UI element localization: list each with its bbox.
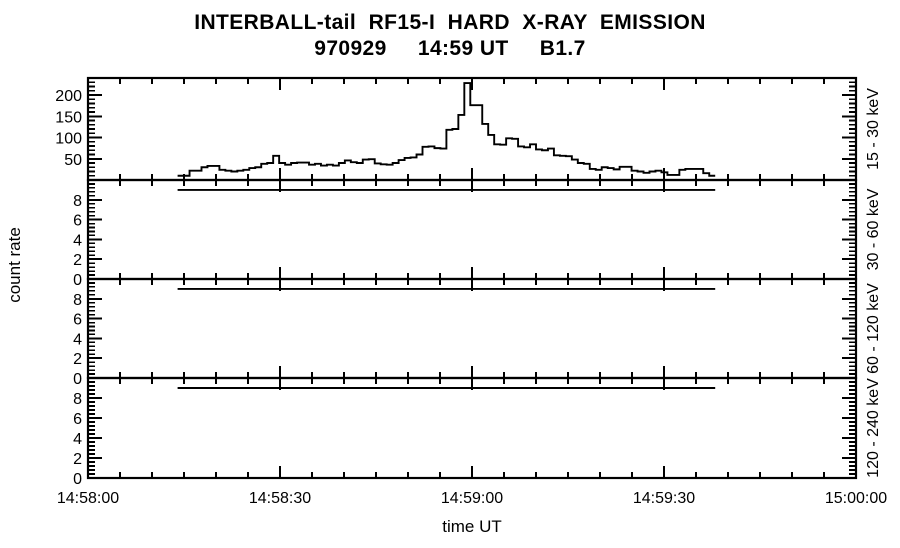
y-tick-label: 200 (55, 88, 82, 105)
y-tick-label: 2 (73, 252, 82, 269)
x-tick-label: 14:59:30 (633, 490, 695, 507)
y-tick-label: 50 (64, 152, 82, 169)
y-tick-label: 4 (73, 232, 82, 249)
x-tick-label: 15:00:00 (825, 490, 887, 507)
y-axis-title: count rate (5, 227, 24, 303)
y-tick-label: 2 (73, 451, 82, 468)
data-trace-panel-0 (178, 83, 716, 176)
panel-frame-0 (88, 78, 856, 180)
panel-0: 2001501005015 - 30 keV (55, 78, 882, 180)
x-tick-label: 14:59:00 (441, 490, 503, 507)
panel-frame-2 (88, 279, 856, 378)
y-tick-label: 6 (73, 213, 82, 230)
y-tick-label: 0 (73, 272, 82, 289)
x-tick-label: 14:58:30 (249, 490, 311, 507)
y-tick-label: 0 (73, 371, 82, 388)
panel-frame-3 (88, 378, 856, 478)
x-axis-title: time UT (442, 517, 502, 536)
plot-svg: 2001501005015 - 30 keV8642030 - 60 keV86… (0, 0, 900, 548)
energy-band-label-0: 15 - 30 keV (865, 88, 882, 170)
figure-root: INTERBALL-tail RF15-I HARD X-RAY EMISSIO… (0, 0, 900, 548)
y-tick-label: 6 (73, 411, 82, 428)
energy-band-label-1: 30 - 60 keV (865, 188, 882, 270)
panel-2: 8642060 - 120 keV (73, 279, 882, 388)
panels-group: 2001501005015 - 30 keV8642030 - 60 keV86… (55, 78, 882, 488)
y-tick-label: 8 (73, 193, 82, 210)
y-tick-label: 4 (73, 431, 82, 448)
panel-1: 8642030 - 60 keV (73, 180, 882, 289)
panel-frame-1 (88, 180, 856, 279)
x-tick-label: 14:58:00 (57, 490, 119, 507)
y-tick-label: 8 (73, 391, 82, 408)
x-axis-group: 14:58:0014:58:3014:59:0014:59:3015:00:00 (57, 490, 887, 507)
y-tick-label: 4 (73, 331, 82, 348)
y-tick-label: 150 (55, 109, 82, 126)
energy-band-label-2: 60 - 120 keV (865, 283, 882, 374)
y-tick-label: 2 (73, 351, 82, 368)
y-tick-label: 8 (73, 292, 82, 309)
panel-3: 86420120 - 240 keV (73, 378, 882, 488)
y-tick-label: 100 (55, 131, 82, 148)
y-tick-label: 0 (73, 471, 82, 488)
y-tick-label: 6 (73, 312, 82, 329)
energy-band-label-3: 120 - 240 keV (865, 378, 882, 478)
